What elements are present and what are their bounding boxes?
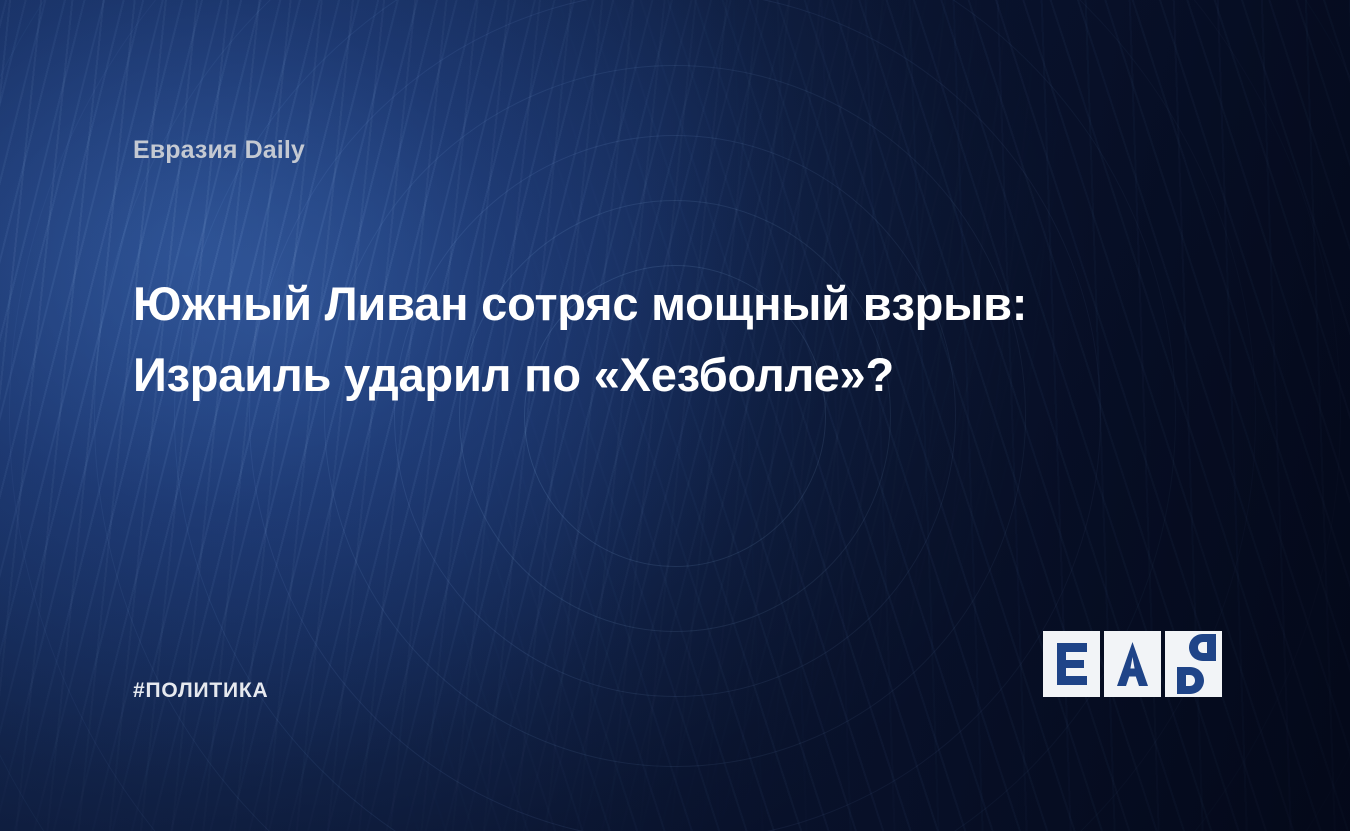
logo-letter-e bbox=[1043, 631, 1100, 697]
eadaily-logo bbox=[1043, 631, 1222, 697]
headline-line-1: Южный Ливан сотряс мощный взрыв: bbox=[133, 268, 1193, 339]
card-content: Евразия Daily Южный Ливан сотряс мощный … bbox=[0, 0, 1350, 831]
headline: Южный Ливан сотряс мощный взрыв: Израиль… bbox=[133, 268, 1193, 411]
logo-letter-a bbox=[1104, 631, 1161, 697]
logo-mark-d bbox=[1165, 631, 1222, 697]
social-share-card: Евразия Daily Южный Ливан сотряс мощный … bbox=[0, 0, 1350, 831]
brand-name: Евразия Daily bbox=[133, 136, 305, 165]
headline-line-2: Израиль ударил по «Хезболле»? bbox=[133, 339, 1193, 410]
topic-hashtag: #ПОЛИТИКА bbox=[133, 679, 269, 703]
